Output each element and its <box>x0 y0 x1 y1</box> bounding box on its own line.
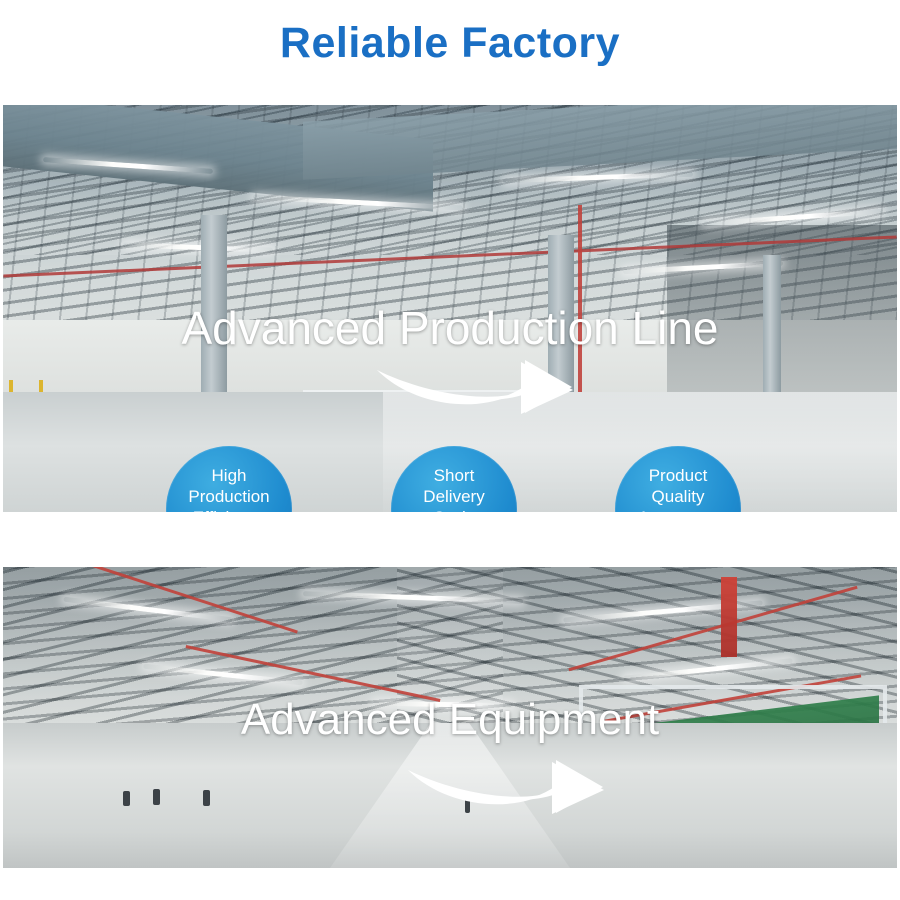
hanging-banner <box>721 577 737 657</box>
curved-swoosh-arrow-right-icon <box>406 752 606 814</box>
feature-line: Delivery <box>423 486 484 507</box>
page-title: Reliable Factory <box>0 0 900 65</box>
worker-figure <box>203 790 210 806</box>
feature-line: High <box>212 465 247 486</box>
banner-headline-equipment: Advanced Equipment <box>241 695 659 745</box>
worker-figure <box>123 791 130 806</box>
feature-line: Short <box>434 465 475 486</box>
feature-line: Product <box>649 465 708 486</box>
feature-line: Cycle <box>433 507 476 512</box>
curved-swoosh-arrow-right-icon <box>375 352 575 414</box>
feature-line: Assurance <box>638 507 718 512</box>
worker-figure <box>153 789 160 805</box>
feature-line: Quality <box>652 486 705 507</box>
banner-headline-production-line: Advanced Production Line <box>181 301 718 355</box>
banner-production-line: Advanced Production Line High Production… <box>3 105 897 512</box>
feature-line: Efficiency <box>193 507 265 512</box>
feature-line: Production <box>188 486 269 507</box>
banner-equipment: 电子检漏房 齐心协力工人有力量 撸起袖子加油干 Advanced Equipme… <box>3 567 897 868</box>
